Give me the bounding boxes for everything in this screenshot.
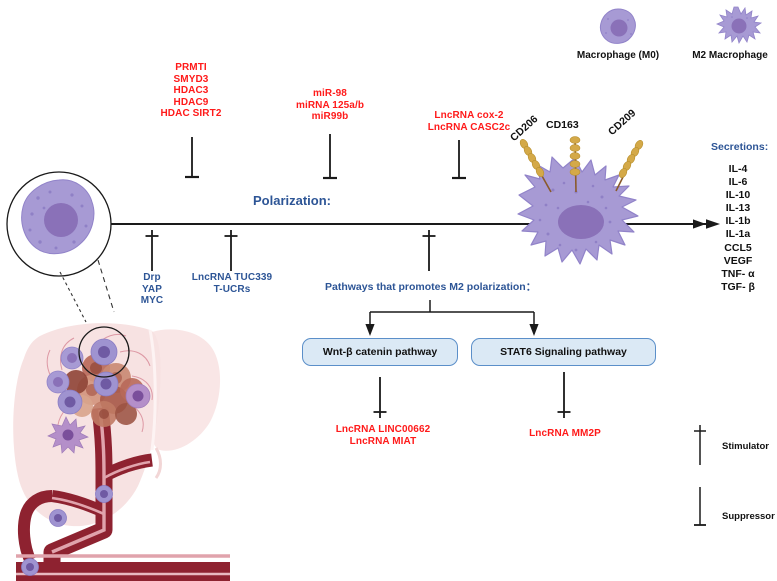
key-stimulator-label: Stimulator bbox=[722, 441, 769, 452]
suppressor-arrow-wnt bbox=[370, 372, 390, 418]
secretion-item: TGF- β bbox=[700, 281, 776, 294]
pathway-box-wnt[interactable]: Wnt-β catenin pathway bbox=[302, 338, 458, 366]
secretion-item: VEGF bbox=[700, 255, 776, 268]
secretion-item: IL-6 bbox=[700, 176, 776, 189]
suppressor-label-epigenetic: PRMTI SMYD3 HDAC3 HDAC9 HDAC SIRT2 bbox=[130, 62, 252, 120]
secretions-list: IL-4 IL-6 IL-10 IL-13 IL-1b IL-1a CCL5 V… bbox=[700, 163, 776, 294]
suppressor-arrow-mirna bbox=[320, 134, 340, 182]
receptor-cd163-icon bbox=[560, 130, 590, 210]
key-stimulator-icon bbox=[690, 423, 710, 467]
secretions-title: Secretions: bbox=[711, 141, 768, 153]
pathways-branch-connector bbox=[368, 300, 568, 340]
secretion-item: TNF- α bbox=[700, 268, 776, 281]
suppressor-label-wnt: LncRNA LINC00662 LncRNA MIAT bbox=[322, 424, 444, 447]
stimulator-arrow-pathways bbox=[419, 227, 439, 271]
suppressor-arrow-lncrna-cox2 bbox=[449, 140, 469, 182]
secretion-item: IL-4 bbox=[700, 163, 776, 176]
polarization-label: Polarization: bbox=[253, 193, 331, 208]
secretion-item: IL-1b bbox=[700, 215, 776, 228]
key-suppressor-icon bbox=[690, 485, 710, 531]
secretion-item: IL-10 bbox=[700, 189, 776, 202]
pathway-box-wnt-label: Wnt-β catenin pathway bbox=[323, 346, 437, 358]
pathway-box-stat6[interactable]: STAT6 Signaling pathway bbox=[471, 338, 656, 366]
legend-macrophage-m0-label: Macrophage (M0) bbox=[563, 50, 673, 61]
pathway-box-stat6-label: STAT6 Signaling pathway bbox=[500, 346, 627, 358]
key-suppressor-label: Suppressor bbox=[722, 511, 775, 522]
secretion-item: IL-13 bbox=[700, 202, 776, 215]
suppressor-label-mirna: miR-98 miRNA 125a/b miR99b bbox=[277, 88, 383, 123]
receptor-cd163-label: CD163 bbox=[546, 119, 579, 131]
secretion-item: CCL5 bbox=[700, 242, 776, 255]
legend-macrophage-m2-icon bbox=[708, 2, 768, 48]
suppressor-label-stat6: LncRNA MM2P bbox=[505, 428, 625, 440]
receptor-cd209-icon bbox=[600, 133, 660, 213]
legend-macrophage-m0-icon bbox=[583, 6, 653, 48]
suppressor-arrow-epigenetic bbox=[182, 137, 202, 181]
suppressor-arrow-stat6 bbox=[554, 372, 574, 418]
secretion-item: IL-1a bbox=[700, 228, 776, 241]
magnification-leader-lines bbox=[20, 250, 180, 350]
legend-macrophage-m2-label: M2 Macrophage bbox=[683, 50, 777, 61]
stimulator-arrow-tuc339 bbox=[221, 227, 241, 271]
